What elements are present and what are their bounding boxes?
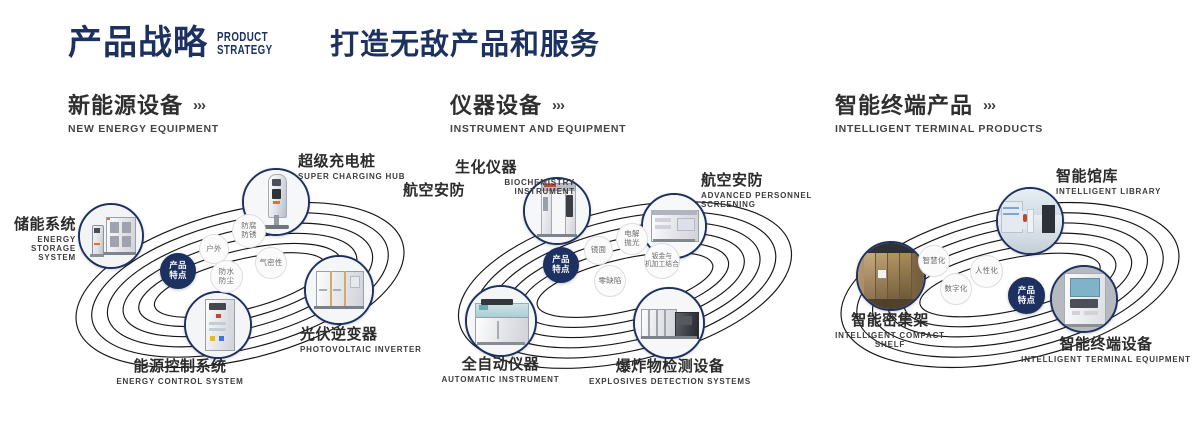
node-energy-control-system[interactable]	[184, 291, 252, 359]
section-title-cn: 新能源设备	[68, 94, 183, 118]
section-title-instrument: 仪器设备››› INSTRUMENT AND EQUIPMENT	[450, 94, 626, 135]
poster-canvas: 产品战略 PRODUCT STRATEGY 打造无敌产品和服务 新能源设备›››…	[0, 0, 1200, 422]
node-photovoltaic-inverter[interactable]	[304, 255, 374, 325]
section-subtitle-en: INTELLIGENT TERMINAL PRODUCTS	[835, 123, 1043, 135]
caption-en: EXPLOSIVES DETECTION SYSTEMS	[575, 378, 765, 387]
caption-explosives-detection-systems: 爆炸物检测设备 EXPLOSIVES DETECTION SYSTEMS	[575, 359, 765, 387]
caption-intelligent-terminal-equipment: 智能终端设备 INTELLIGENT TERMINAL EQUIPMENT	[1006, 337, 1200, 365]
bubble-product-features[interactable]: 产品 特点	[1008, 277, 1045, 314]
caption-cn: 智能终端设备	[1006, 337, 1200, 354]
node-automatic-instrument[interactable]	[465, 285, 537, 357]
chevrons-icon: ›››	[983, 98, 995, 115]
caption-intelligent-library: 智能馆库 INTELLIGENT LIBRARY	[1056, 169, 1200, 197]
bubble-feature-2[interactable]: 数字化	[940, 273, 972, 305]
bubble-feature-1[interactable]: 电解 抛光	[616, 223, 648, 255]
caption-en: INTELLIGENT COMPACT SHELF	[815, 332, 965, 350]
cluster-intelligent-terminal: 智能馆库 INTELLIGENT LIBRARY 智能密集架 INTELLIGE…	[810, 155, 1200, 415]
caption-cn: 爆炸物检测设备	[575, 359, 765, 376]
caption-aviation-security-left: 航空安防	[373, 183, 465, 200]
caption-energy-storage-system: 储能系统 ENERGY STORAGE SYSTEM	[0, 217, 76, 263]
caption-super-charging-hub: 超级充电桩 SUPER CHARGING HUB	[298, 154, 438, 182]
bubble-feature-3[interactable]: 零缺陷	[594, 265, 626, 297]
caption-cn: 储能系统	[0, 217, 76, 234]
bubble-feature-2[interactable]: 防水 防尘	[210, 260, 243, 293]
caption-en: BIOCHEMISTRY INSTRUMENT	[455, 179, 575, 197]
caption-en: PHOTOVOLTAIC INVERTER	[300, 346, 440, 355]
chevrons-icon: ›››	[193, 98, 205, 115]
bubble-product-features[interactable]: 产品 特点	[160, 253, 196, 289]
bubble-feature-3[interactable]: 气密性	[255, 247, 287, 279]
node-intelligent-terminal-equipment[interactable]	[1050, 265, 1118, 333]
section-title-cn: 仪器设备	[450, 94, 542, 118]
bubble-feature-2[interactable]: 钣金与 机加工结合	[644, 243, 680, 279]
caption-en: ENERGY STORAGE SYSTEM	[0, 236, 76, 263]
node-intelligent-library[interactable]	[996, 187, 1064, 255]
caption-cn: 能源控制系统	[70, 359, 290, 376]
caption-en: ENERGY CONTROL SYSTEM	[70, 378, 290, 387]
brand-title-en: PRODUCT STRATEGY	[217, 31, 272, 60]
caption-automatic-instrument: 全自动仪器 AUTOMATIC INSTRUMENT	[413, 357, 588, 385]
caption-en: INTELLIGENT TERMINAL EQUIPMENT	[1006, 356, 1200, 365]
headline: 打造无敌产品和服务	[330, 30, 600, 62]
section-subtitle-en: INSTRUMENT AND EQUIPMENT	[450, 123, 626, 135]
cluster-instrument: 航空安防 生化仪器 BIOCHEMISTRY INSTRUMENT 航空安防 A…	[425, 155, 825, 415]
section-subtitle-en: NEW ENERGY EQUIPMENT	[68, 123, 219, 135]
section-title-cn: 智能终端产品	[835, 94, 973, 118]
caption-en: INTELLIGENT LIBRARY	[1056, 188, 1200, 197]
bubble-feature-0[interactable]: 智慧化	[918, 245, 950, 277]
caption-cn: 光伏逆变器	[300, 327, 440, 344]
caption-cn: 智能馆库	[1056, 169, 1200, 186]
caption-en: AUTOMATIC INSTRUMENT	[413, 376, 588, 385]
caption-intelligent-compact-shelf: 智能密集架 INTELLIGENT COMPACT SHELF	[815, 313, 965, 350]
brand-header: 产品战略 PRODUCT STRATEGY	[68, 26, 288, 60]
caption-cn: 航空安防	[373, 183, 465, 200]
section-title-intelligent-terminal: 智能终端产品››› INTELLIGENT TERMINAL PRODUCTS	[835, 94, 1043, 135]
bubble-feature-1[interactable]: 防腐 防锈	[232, 214, 266, 248]
caption-cn: 全自动仪器	[413, 357, 588, 374]
caption-cn: 智能密集架	[815, 313, 965, 330]
caption-cn: 超级充电桩	[298, 154, 438, 171]
chevrons-icon: ›››	[552, 98, 564, 115]
caption-photovoltaic-inverter: 光伏逆变器 PHOTOVOLTAIC INVERTER	[300, 327, 440, 355]
caption-en: SUPER CHARGING HUB	[298, 173, 438, 182]
caption-energy-control-system: 能源控制系统 ENERGY CONTROL SYSTEM	[70, 359, 290, 387]
bubble-product-features[interactable]: 产品 特点	[543, 247, 579, 283]
caption-biochemistry-instrument: 生化仪器 BIOCHEMISTRY INSTRUMENT	[455, 160, 575, 197]
caption-cn: 生化仪器	[455, 160, 575, 177]
bubble-feature-1[interactable]: 人性化	[970, 255, 1003, 288]
node-explosives-detection-systems[interactable]	[633, 287, 705, 359]
section-title-new-energy: 新能源设备››› NEW ENERGY EQUIPMENT	[68, 94, 219, 135]
bubble-feature-0[interactable]: 镜面	[584, 236, 613, 265]
node-intelligent-compact-shelf[interactable]	[856, 241, 926, 311]
brand-title-cn: 产品战略	[68, 26, 208, 60]
node-energy-storage-system[interactable]	[78, 203, 144, 269]
